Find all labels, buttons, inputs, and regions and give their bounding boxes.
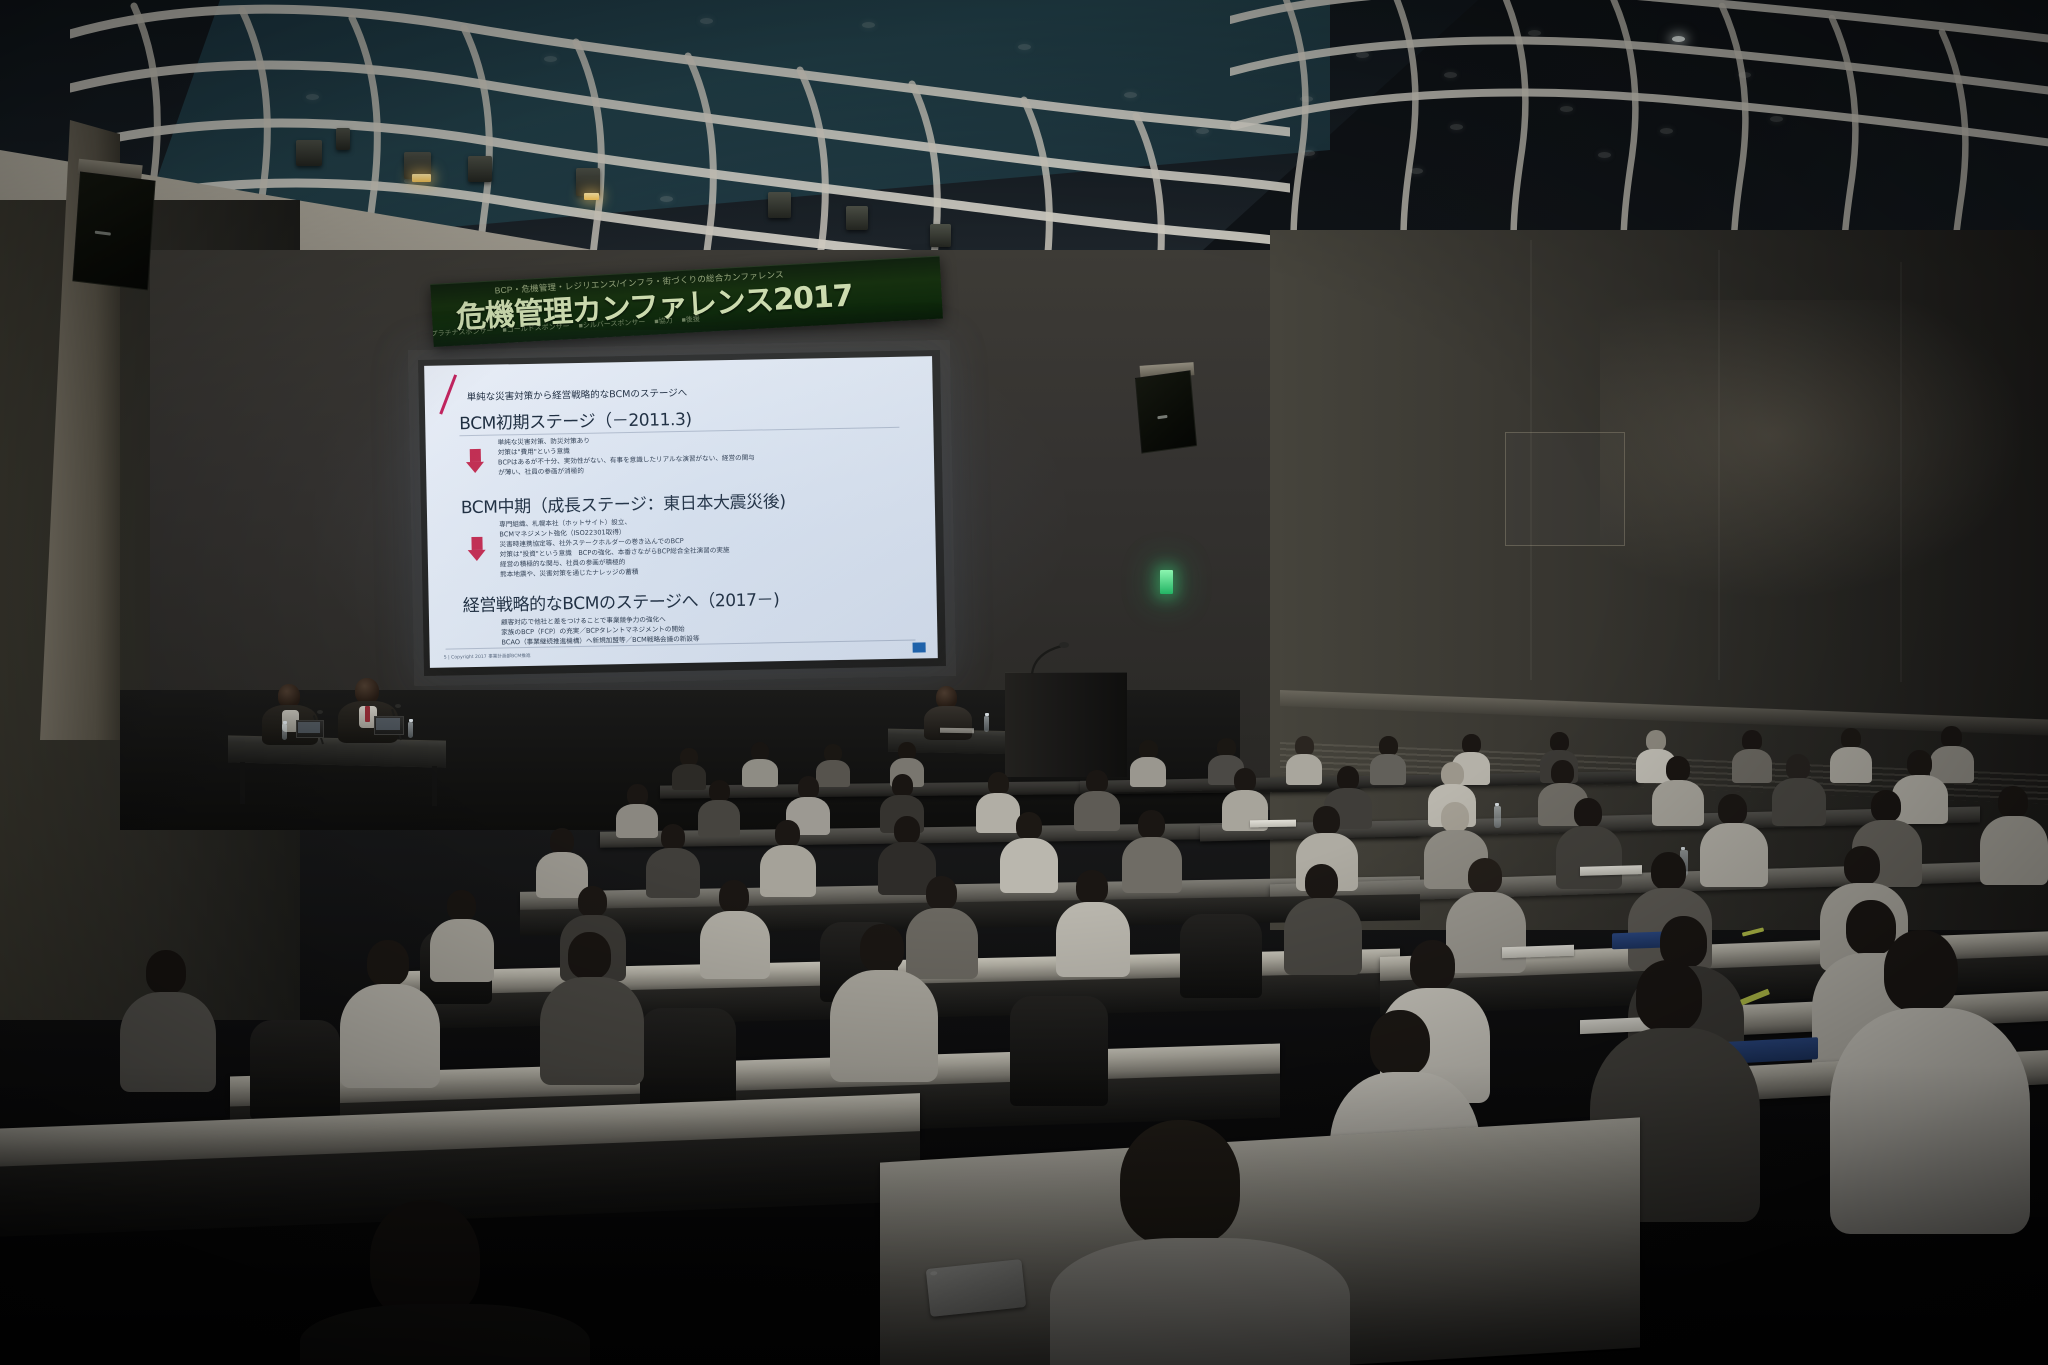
audience-torso (540, 977, 644, 1085)
arrow-head (468, 550, 486, 561)
emergency-exit-sign (1160, 570, 1173, 594)
audience-head (894, 816, 920, 844)
audience-torso (1050, 1238, 1350, 1365)
recessed-downlight (544, 56, 557, 62)
recessed-downlight (1444, 72, 1457, 78)
wall-panel-seam (1718, 250, 1720, 680)
audience-member (1370, 736, 1406, 784)
audience-head (1844, 846, 1880, 885)
smartphone (926, 1259, 1026, 1317)
banner-sponsor-item: ■ゴールドスポンサー (502, 323, 570, 334)
recessed-downlight (1560, 106, 1573, 112)
slide-heading-1: BCM初期ステージ（－2011.3) (459, 405, 692, 434)
audience-torso (1652, 780, 1704, 826)
audience-head (1016, 812, 1042, 840)
audience-torso (1130, 757, 1166, 787)
audience-member (1732, 730, 1772, 782)
audience-head (1884, 930, 1958, 1012)
screen-frame: 単純な災害対策から経営戦略的なBCMのステージへ BCM初期ステージ（－2011… (418, 350, 946, 676)
stage-spotlight-lit (412, 174, 431, 182)
audience-member (120, 950, 216, 1090)
audience-torso (1284, 898, 1362, 975)
slide-eyebrow: 単純な災害対策から経営戦略的なBCMのステージへ (467, 385, 688, 403)
audience-head (1313, 806, 1340, 835)
slide-body-1-1: 対策は"費用"という意識 (498, 447, 570, 458)
audience-head (926, 876, 957, 910)
recessed-downlight (1018, 44, 1031, 50)
laptop (374, 716, 402, 738)
audience-head (892, 774, 913, 797)
audience-torso (1556, 826, 1622, 889)
audience-member (1980, 786, 2048, 884)
slide-heading-3: 経営戦略的なBCMのステージへ（2017－) (462, 585, 779, 616)
audience-chair (640, 1008, 736, 1114)
wall-pa-speaker (1135, 370, 1197, 454)
mic-capsule (395, 704, 401, 708)
banner-sponsor-item: ■シルバースポンサー (578, 319, 645, 330)
audience-member (646, 824, 700, 896)
audience-member (1056, 870, 1130, 976)
audience-head (1295, 736, 1314, 756)
audience-head (1941, 726, 1962, 748)
down-arrow-icon (467, 537, 486, 561)
slide-body-2-5: 熊本地震や、災害対策を通じたナレッジの蓄積 (500, 568, 638, 580)
recessed-downlight (1738, 72, 1751, 78)
bottle-cap (1495, 803, 1499, 806)
recessed-downlight (1300, 96, 1313, 102)
audience-head (1666, 756, 1690, 782)
audience-head (578, 886, 607, 917)
audience-torso (1122, 837, 1182, 893)
banner-sponsor-item: ■後援 (681, 316, 700, 324)
stage-spotlight (468, 156, 492, 182)
audience-head (1651, 852, 1686, 890)
table-leg (432, 766, 437, 806)
mic-capsule (317, 710, 323, 714)
arrow-stem (470, 449, 481, 462)
audience-head (1786, 754, 1810, 780)
audience-head (1551, 760, 1574, 785)
stage-spotlight (296, 140, 322, 166)
stage-spotlight (336, 128, 350, 150)
stage-spotlight-lit (584, 193, 599, 200)
audience-head (860, 924, 904, 972)
water-bottle (282, 724, 287, 740)
audience-head (1646, 730, 1666, 751)
laptop (296, 720, 322, 740)
audience-torso (1056, 902, 1130, 977)
audience-torso (830, 970, 938, 1082)
audience-member (742, 742, 778, 786)
laptop-screen (298, 722, 320, 733)
bottle-cap (1681, 847, 1685, 850)
audience-head (1462, 734, 1481, 754)
audience-head (661, 824, 685, 850)
audience-member (1284, 864, 1362, 974)
recessed-downlight (862, 22, 875, 28)
arrow-head (466, 462, 484, 473)
audience-head (1379, 736, 1398, 756)
recessed-downlight (1196, 128, 1209, 134)
slide-heading-2: BCM中期（成長ステージ：東日本大震災後) (461, 487, 786, 518)
down-arrow-icon (466, 449, 485, 473)
presentation-slide: 単純な災害対策から経営戦略的なBCMのステージへ BCM初期ステージ（－2011… (424, 356, 938, 668)
bottle-cap (283, 721, 287, 724)
slide-body-1-0: 単純な災害対策、防災対策あり (498, 437, 590, 448)
audience-torso (1370, 754, 1406, 785)
audience-head (627, 784, 648, 806)
audience-torso (1772, 778, 1826, 826)
audience-head (1076, 870, 1108, 904)
speaker-led-indicator (1157, 415, 1167, 419)
recessed-downlight (1124, 92, 1137, 98)
speaker-led-indicator (95, 231, 111, 236)
audience-head (1305, 864, 1338, 900)
audience-head (719, 880, 749, 913)
right-wall-light-wash (1600, 300, 2030, 600)
recessed-downlight (1356, 52, 1369, 58)
audience-member (1286, 736, 1322, 784)
audience-member (300, 1200, 590, 1365)
audience-head (1441, 762, 1464, 786)
recessed-downlight (1302, 150, 1315, 156)
audience-head (1234, 768, 1256, 792)
audience-member (1130, 740, 1166, 786)
conference-hall-scene: BCP・危機管理・レジリエンス/インフラ・街づくりの総合カンファレンス 危機管理… (0, 0, 2048, 1365)
recessed-downlight (1672, 36, 1685, 42)
recessed-downlight (1770, 116, 1783, 122)
audience-member (540, 932, 644, 1082)
paper-handout (940, 728, 974, 734)
audience-head (1998, 786, 2028, 818)
audience-member (700, 880, 770, 978)
audience-head (367, 940, 409, 986)
audience-head (775, 820, 800, 847)
bottle-cap (409, 719, 413, 722)
audience-head (447, 890, 476, 921)
audience-head (1468, 858, 1502, 894)
audience-torso (340, 984, 440, 1088)
lectern-microphone (1028, 640, 1072, 676)
audience-head (798, 776, 819, 799)
slide-accent-stroke (439, 374, 457, 414)
audience-torso (1980, 816, 2048, 885)
audience-member (340, 940, 440, 1086)
recessed-downlight (1450, 124, 1463, 130)
audience-member (1772, 754, 1826, 824)
water-bottle (984, 716, 989, 732)
audience-torso (646, 848, 700, 898)
audience-head (1871, 790, 1901, 822)
arrow-stem (471, 537, 482, 550)
audience-head (1138, 810, 1165, 839)
audience-member (1050, 1120, 1350, 1365)
audience-head (1907, 750, 1932, 777)
recessed-downlight (1410, 168, 1423, 174)
audience-head (1841, 728, 1861, 749)
audience-torso (1000, 838, 1058, 893)
audience-member (698, 780, 740, 836)
audience-torso (1830, 1008, 2030, 1234)
slide-footer-text: 5 | Copyright 2017 事業計画部BCM推進 (444, 653, 531, 661)
audience-head (1718, 794, 1747, 825)
wall-pa-speaker (72, 171, 155, 290)
projection-screen: 単純な災害対策から経営戦略的なBCMのステージへ BCM初期ステージ（－2011… (418, 350, 946, 676)
audience-head (1410, 940, 1455, 990)
audience-head (709, 780, 730, 802)
audience-member (1830, 728, 1872, 782)
audience-torso (1830, 747, 1872, 783)
audience-chair (1180, 914, 1262, 998)
audience-head (1550, 732, 1569, 752)
audience-head (1441, 802, 1469, 832)
stage-spotlight (768, 192, 791, 218)
recessed-downlight (1660, 128, 1673, 134)
water-bottle (1494, 806, 1501, 828)
audience-head (988, 772, 1009, 795)
audience-head (370, 1200, 480, 1320)
recessed-downlight (1528, 30, 1541, 36)
audience-head (1337, 766, 1359, 790)
audience-member (830, 924, 938, 1080)
recessed-downlight (660, 196, 673, 202)
slide-body-1-3: が薄い、社員の参画が消極的 (498, 467, 584, 478)
audience-torso (300, 1304, 590, 1365)
water-bottle (408, 722, 413, 738)
paper-handout (1250, 820, 1296, 828)
audience-chair (250, 1020, 340, 1120)
audience-head (568, 932, 611, 979)
table-leg (240, 762, 245, 804)
audience-head (1636, 960, 1702, 1032)
banner-sponsor-item: ■プラチナスポンサー (430, 328, 493, 339)
moderator-torso (924, 706, 972, 740)
laptop-screen (376, 718, 400, 730)
audience-head (1574, 798, 1602, 828)
panelist-necktie (365, 706, 370, 722)
lectern (1005, 672, 1127, 777)
stage-spotlight (846, 206, 868, 230)
audience-head (1370, 1010, 1430, 1076)
audience-head (1120, 1120, 1240, 1246)
audience-member (1652, 756, 1704, 824)
audience-member (1830, 930, 2030, 1230)
audience-member (1074, 770, 1120, 830)
audience-member (1122, 810, 1182, 892)
wall-access-panel (1505, 432, 1625, 546)
wall-panel-seam (1900, 262, 1902, 682)
phone-camera-lens (930, 1271, 937, 1276)
slide-logo-mark (913, 642, 926, 652)
recessed-downlight (700, 18, 713, 24)
audience-torso (698, 800, 740, 837)
audience-torso (1732, 749, 1772, 783)
audience-torso (1286, 754, 1322, 785)
audience-head (1086, 770, 1108, 793)
recessed-downlight (1598, 152, 1611, 158)
stage-spotlight (576, 168, 600, 196)
bottle-cap (985, 713, 989, 716)
recessed-downlight (306, 94, 319, 100)
audience-chair (1010, 996, 1108, 1106)
audience-torso (742, 759, 778, 787)
audience-torso (1074, 791, 1120, 831)
audience-head (1742, 730, 1762, 751)
audience-head (550, 828, 574, 854)
audience-member (1000, 812, 1058, 892)
audience-torso (120, 992, 216, 1092)
stage-spotlight (930, 224, 951, 247)
audience-torso (700, 911, 770, 979)
audience-head (146, 950, 186, 994)
banner-sponsor-item: ■協力 (654, 318, 673, 326)
